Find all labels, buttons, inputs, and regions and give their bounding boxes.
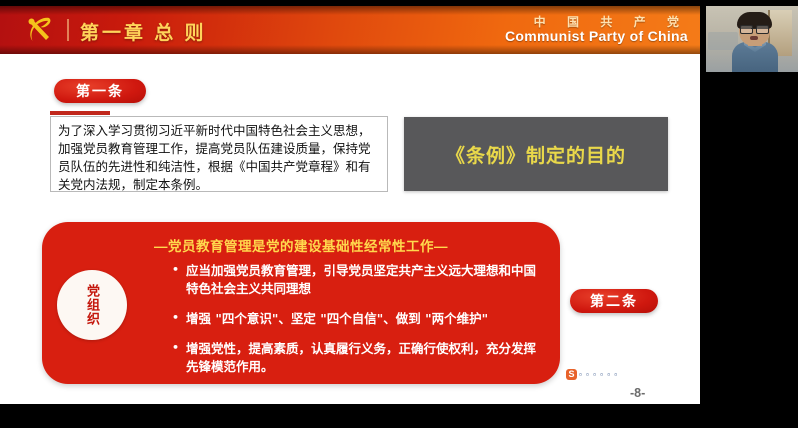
article-one-badge: 第一条 — [54, 79, 146, 103]
watermark-badge-icon: S — [566, 369, 577, 380]
chapter-title: 第一章 总 则 — [80, 18, 207, 45]
slide-header: 第一章 总 则 中 国 共 产 党 Communist Party of Chi… — [0, 6, 700, 54]
page-number: -8- — [630, 386, 645, 400]
red-panel-title: —党员教育管理是党的建设基础性经常性工作— — [42, 235, 560, 255]
list-item: 增强 "四个意识"、坚定 "四个自信"、做到 "两个维护" — [170, 310, 538, 328]
presenter-mouth — [750, 36, 758, 40]
party-organization-label: 党组织 — [84, 284, 100, 326]
glasses-icon — [740, 25, 769, 32]
watermark-text: ▫ ▫ ▫ ▫ ▫ ▫ — [579, 370, 618, 379]
hammer-and-sickle-icon — [24, 15, 56, 45]
presenter-webcam[interactable] — [706, 6, 798, 72]
watermark-logo: S ▫ ▫ ▫ ▫ ▫ ▫ — [564, 368, 620, 381]
screen: 第一章 总 则 中 国 共 产 党 Communist Party of Chi… — [0, 0, 798, 428]
org-name-en: Communist Party of China — [505, 28, 688, 44]
header-divider — [67, 19, 69, 41]
party-organization-circle: 党组织 — [57, 270, 127, 340]
article-one-textbox: 为了深入学习贯彻习近平新时代中国特色社会主义思想，加强党员教育管理工作，提高党员… — [50, 116, 388, 192]
purpose-box-label: 《条例》制定的目的 — [446, 141, 626, 168]
purpose-box: 《条例》制定的目的 — [404, 117, 668, 191]
presenter-torso — [732, 42, 778, 72]
slide-canvas: 第一章 总 则 中 国 共 产 党 Communist Party of Chi… — [0, 6, 700, 404]
red-rule-divider — [50, 111, 110, 115]
article-two-badge: 第二条 — [570, 289, 658, 313]
bullet-list: 应当加强党员教育管理，引导党员坚定共产主义远大理想和中国特色社会主义共同理想 增… — [170, 262, 538, 388]
red-content-panel: —党员教育管理是党的建设基础性经常性工作— 党组织 应当加强党员教育管理，引导党… — [42, 222, 560, 384]
list-item: 增强党性，提高素质，认真履行义务，正确行使权利，充分发挥先锋模范作用。 — [170, 340, 538, 376]
article-one-text: 为了深入学习贯彻习近平新时代中国特色社会主义思想，加强党员教育管理工作，提高党员… — [58, 122, 380, 194]
list-item: 应当加强党员教育管理，引导党员坚定共产主义远大理想和中国特色社会主义共同理想 — [170, 262, 538, 298]
